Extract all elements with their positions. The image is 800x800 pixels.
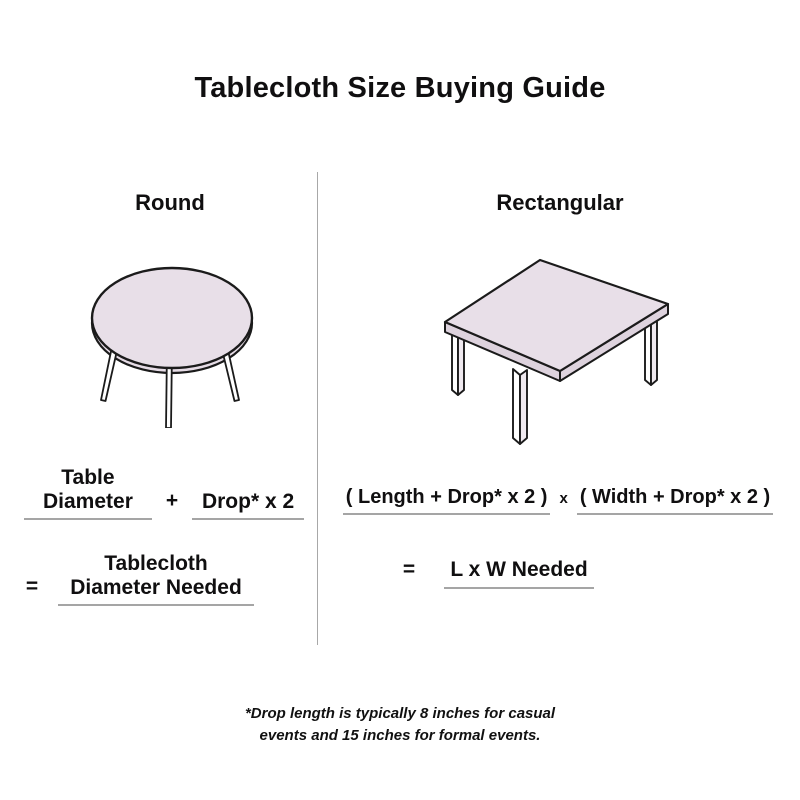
round-formula-term-line-2: Diameter [43, 490, 133, 513]
round-formula-term-table-diameter: Table Diameter [24, 466, 152, 520]
rectangular-column-heading: Rectangular [420, 190, 700, 216]
rect-formula-operator-equals: = [400, 558, 418, 589]
page-title: Tablecloth Size Buying Guide [0, 72, 800, 105]
round-formula-result: Tablecloth Diameter Needed [58, 552, 254, 606]
rect-table-leg-back-left-side [458, 332, 464, 395]
rect-table-leg-back-right-side [651, 317, 657, 385]
footnote: *Drop length is typically 8 inches for c… [0, 703, 800, 747]
round-table-illustration [60, 228, 290, 428]
footnote-line-1: *Drop length is typically 8 inches for c… [0, 703, 800, 725]
rect-table-leg-front-left-side [520, 370, 527, 444]
round-formula-term-drop: Drop* x 2 [192, 490, 304, 521]
rect-formula-result: L x W Needed [444, 558, 594, 589]
round-result-line-2: Diameter Needed [70, 576, 242, 599]
column-divider [317, 172, 318, 645]
round-formula-operator-equals: = [24, 575, 40, 606]
round-table-top [92, 268, 252, 368]
rectangular-table-illustration [440, 238, 695, 453]
round-formula: Table Diameter + Drop* x 2 [24, 466, 304, 520]
rectangular-result: = L x W Needed [400, 558, 730, 589]
rect-formula-term-length: ( Length + Drop* x 2 ) [343, 486, 551, 515]
rect-formula-operator-times: x [559, 490, 567, 515]
rect-formula-term-width: ( Width + Drop* x 2 ) [577, 486, 773, 515]
rectangular-formula: ( Length + Drop* x 2 ) x ( Width + Drop*… [322, 486, 794, 515]
footnote-line-2: events and 15 inches for formal events. [0, 725, 800, 747]
round-column-heading: Round [60, 190, 280, 216]
rect-table-top [445, 260, 668, 371]
round-result: = Tablecloth Diameter Needed [24, 552, 309, 606]
round-formula-term-line-1: Table [61, 466, 114, 489]
round-formula-operator-plus: + [166, 489, 178, 520]
rect-table-leg-front-left [513, 369, 520, 444]
round-result-line-1: Tablecloth [104, 552, 207, 575]
